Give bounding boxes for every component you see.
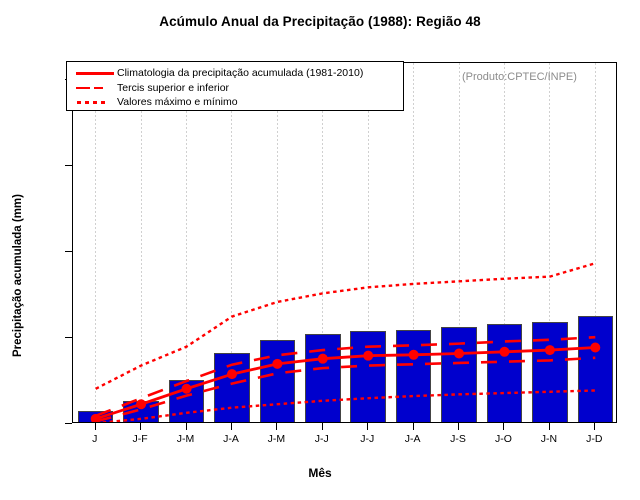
- x-tick-mark: [549, 423, 550, 430]
- x-tick-label: J-A: [223, 433, 239, 445]
- x-axis-label: Mês: [0, 466, 640, 480]
- legend-item-tercis: Tercis superior e inferior: [73, 81, 397, 96]
- x-tick-mark: [276, 423, 277, 430]
- legend-label: Climatologia da precipitação acumulada (…: [117, 68, 363, 79]
- x-tick-mark: [367, 423, 368, 430]
- x-tick-label: J-N: [541, 433, 557, 445]
- x-tick-mark: [140, 423, 141, 430]
- x-tick-mark: [231, 423, 232, 430]
- y-tick-mark: [65, 337, 72, 338]
- x-tick-label: J-O: [495, 433, 512, 445]
- x-tick-mark: [594, 423, 595, 430]
- x-tick-label: J-J: [315, 433, 329, 445]
- x-tick-label: J-J: [360, 433, 374, 445]
- y-axis-label-text: Precipitação acumulada (mm): [12, 194, 24, 357]
- x-tick-label: J-D: [586, 433, 602, 445]
- chart-canvas: Acúmulo Anual da Precipitação (1988): Re…: [0, 0, 640, 500]
- y-tick-mark: [65, 251, 72, 252]
- x-tick-mark: [503, 423, 504, 430]
- dashed-line-icon: [73, 82, 117, 94]
- x-tick-label: J-M: [177, 433, 195, 445]
- x-tick-mark: [413, 423, 414, 430]
- x-tick-mark: [186, 423, 187, 430]
- y-tick-mark: [65, 423, 72, 424]
- x-tick-mark: [458, 423, 459, 430]
- x-tick-label: J-M: [268, 433, 286, 445]
- legend-item-extremes: Valores máximo e mínimo: [73, 95, 397, 110]
- x-tick-mark: [322, 423, 323, 430]
- product-credit: (Produto:CPTEC/INPE): [462, 71, 577, 83]
- x-tick-label: J-A: [405, 433, 421, 445]
- chart-title: Acúmulo Anual da Precipitação (1988): Re…: [0, 14, 640, 29]
- solid-line-icon: [73, 67, 117, 79]
- x-tick-label: J-F: [133, 433, 148, 445]
- dotted-line-icon: [73, 96, 117, 108]
- legend: Climatologia da precipitação acumulada (…: [66, 61, 404, 111]
- axis-layer: 01000200030004000 JJ-FJ-MJ-AJ-MJ-JJ-JJ-A…: [72, 62, 617, 423]
- y-tick-mark: [65, 165, 72, 166]
- legend-item-climatology: Climatologia da precipitação acumulada (…: [73, 66, 397, 81]
- x-tick-label: J: [92, 433, 97, 445]
- x-tick-label: J-S: [450, 433, 466, 445]
- legend-label: Tercis superior e inferior: [117, 83, 229, 94]
- x-tick-mark: [95, 423, 96, 430]
- legend-label: Valores máximo e mínimo: [117, 97, 238, 108]
